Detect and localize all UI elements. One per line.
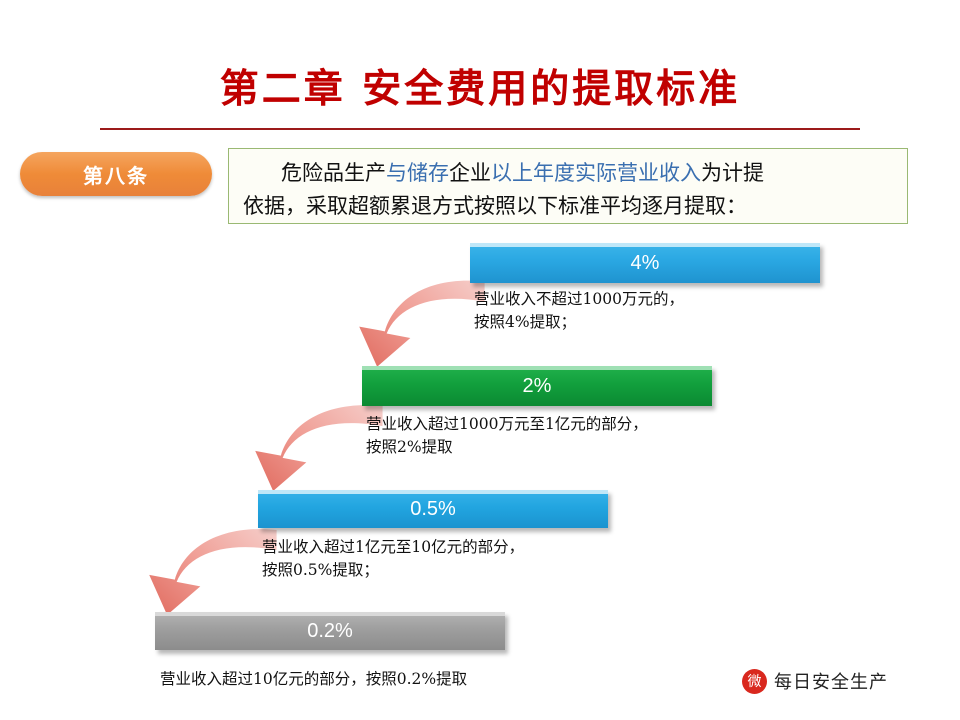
quote-line-1: 危险品生产与储存企业以上年度实际营业收入为计提 bbox=[243, 157, 893, 190]
quote-seg-4: 以上年度实际营业收入 bbox=[491, 161, 701, 185]
wechat-icon: 微 bbox=[742, 669, 767, 694]
quote-seg-3: 企业 bbox=[449, 161, 491, 185]
tier-bar-2-highlight bbox=[362, 366, 712, 370]
tier-bar-4-label: 0.2% bbox=[307, 620, 353, 643]
tier-bar-1: 4% bbox=[470, 243, 820, 283]
quote-seg-5: 为计提 bbox=[701, 161, 764, 185]
quote-seg-1: 危险品生产 bbox=[281, 161, 386, 185]
footer-branding: 微 每日安全生产 bbox=[742, 668, 888, 694]
wechat-icon-glyph: 微 bbox=[748, 671, 762, 691]
title-divider bbox=[100, 128, 860, 130]
tier-bar-3: 0.5% bbox=[258, 490, 608, 528]
tier-bar-1-label: 4% bbox=[631, 252, 660, 275]
slide-root: 第二章 安全费用的提取标准 第八条 危险品生产与储存企业以上年度实际营业收入为计… bbox=[0, 0, 960, 720]
quote-seg-2: 与储存 bbox=[386, 161, 449, 185]
tier-caption-4-line-1: 营业收入超过10亿元的部分，按照0.2%提取 bbox=[160, 668, 467, 691]
tier-bar-3-label: 0.5% bbox=[410, 498, 456, 521]
article-badge-label: 第八条 bbox=[83, 160, 149, 189]
quote-line-2: 依据，采取超额累退方式按照以下标准平均逐月提取： bbox=[243, 190, 893, 223]
tier-caption-2: 营业收入超过1000万元至1亿元的部分， 按照2%提取 bbox=[366, 413, 648, 459]
footer-account-name: 每日安全生产 bbox=[774, 668, 888, 694]
tier-caption-1: 营业收入不超过1000万元的， 按照4%提取； bbox=[474, 288, 684, 334]
tier-caption-3-line-1: 营业收入超过1亿元至10亿元的部分， bbox=[262, 536, 524, 559]
tier-caption-3: 营业收入超过1亿元至10亿元的部分， 按照0.5%提取； bbox=[262, 536, 524, 582]
article-badge: 第八条 bbox=[20, 152, 212, 196]
tier-caption-1-line-2: 按照4%提取； bbox=[474, 311, 684, 334]
tier-caption-4: 营业收入超过10亿元的部分，按照0.2%提取 bbox=[160, 668, 467, 691]
tier-bar-1-highlight bbox=[470, 243, 820, 247]
quote-box: 危险品生产与储存企业以上年度实际营业收入为计提 依据，采取超额累退方式按照以下标… bbox=[228, 148, 908, 224]
tier-caption-2-line-2: 按照2%提取 bbox=[366, 436, 648, 459]
tier-bar-2-label: 2% bbox=[523, 375, 552, 398]
tier-bar-3-highlight bbox=[258, 490, 608, 494]
page-title: 第二章 安全费用的提取标准 bbox=[0, 58, 960, 114]
tier-bar-4: 0.2% bbox=[155, 612, 505, 650]
tier-bar-4-highlight bbox=[155, 612, 505, 616]
tier-caption-2-line-1: 营业收入超过1000万元至1亿元的部分， bbox=[366, 413, 648, 436]
tier-caption-3-line-2: 按照0.5%提取； bbox=[262, 559, 524, 582]
tier-bar-2: 2% bbox=[362, 366, 712, 406]
tier-caption-1-line-1: 营业收入不超过1000万元的， bbox=[474, 288, 684, 311]
